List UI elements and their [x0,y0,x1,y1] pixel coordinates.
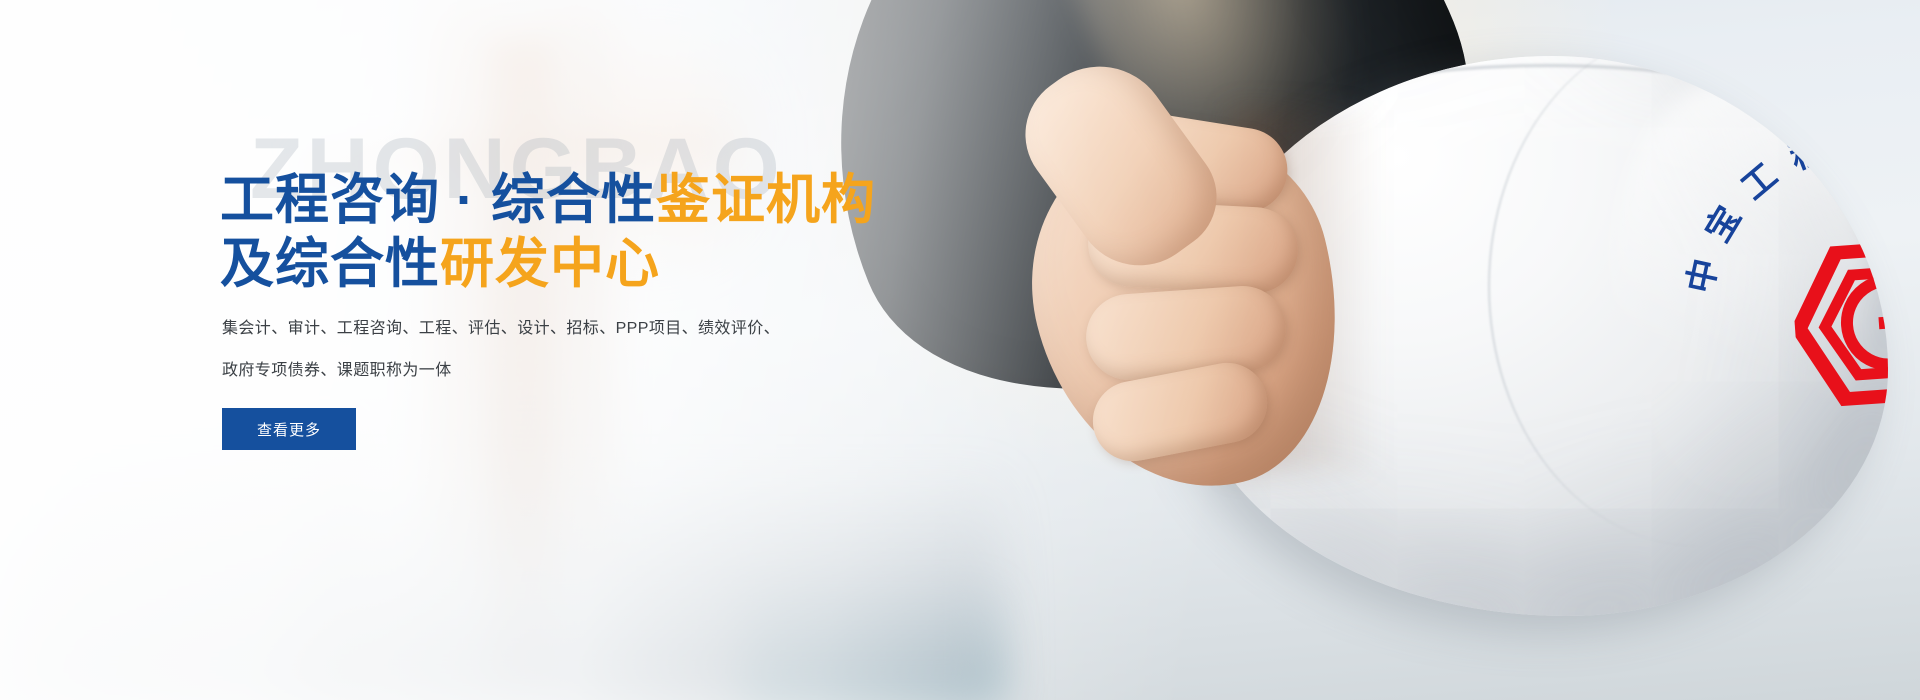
view-more-button[interactable]: 查看更多 [222,408,356,450]
headline-line-1-amber: 鉴证机构 [656,170,876,230]
headline-line-2-blue: 及综合性 [220,234,440,294]
headline-line-2-amber: 研发中心 [440,234,660,294]
hero-banner: 中宝工程管理 ZHONGBAO [0,0,1920,700]
headline-line-1-blue: 工程咨询 · 综合性 [220,170,656,230]
headline-line-2: 及综合性研发中心 [220,232,980,296]
description-line-1: 集会计、审计、工程咨询、工程、评估、设计、招标、PPP项目、绩效评价、 [222,308,822,350]
hero-description: 集会计、审计、工程咨询、工程、评估、设计、招标、PPP项目、绩效评价、 政府专项… [222,308,822,392]
description-line-2: 政府专项债券、课题职称为一体 [222,350,822,392]
headline-line-1: 工程咨询 · 综合性鉴证机构 [220,168,980,232]
hero-content: ZHONGBAO 工程咨询 · 综合性鉴证机构 及综合性研发中心 集会计、审计、… [220,0,1000,700]
hero-headline: 工程咨询 · 综合性鉴证机构 及综合性研发中心 [220,168,980,296]
